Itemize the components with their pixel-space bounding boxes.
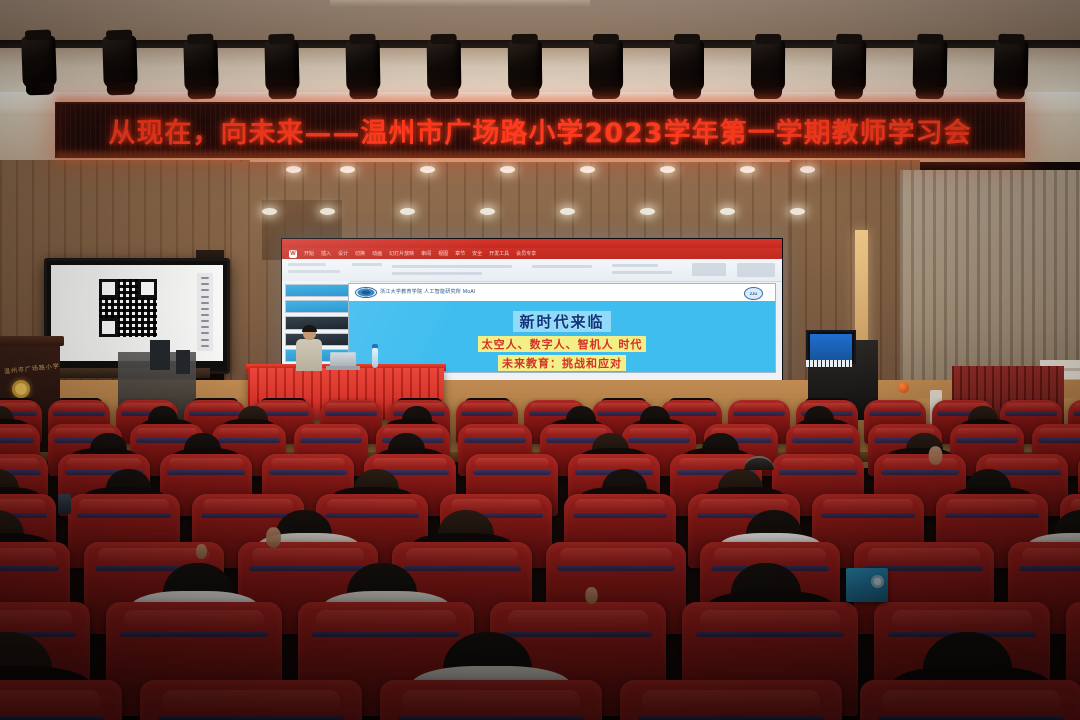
whiteboard-tool-button[interactable]: [201, 339, 209, 341]
recessed-downlight: [340, 166, 355, 173]
audience-member-face: [585, 587, 597, 604]
seat-highlight: [1039, 428, 1080, 436]
seat-highlight: [947, 499, 1037, 511]
whiteboard-tool-button[interactable]: [201, 345, 209, 347]
recessed-downlight: [400, 208, 415, 215]
whiteboard-tool-button[interactable]: [201, 277, 209, 279]
seat-highlight: [475, 458, 549, 468]
seat-highlight: [577, 458, 651, 468]
ribbon-ghost-control: [692, 263, 726, 276]
seat-highlight: [629, 428, 688, 436]
ceiling-spotlight: [508, 40, 542, 92]
orange-ball: [898, 382, 909, 393]
whiteboard-tool-button[interactable]: [201, 332, 209, 334]
institute-logo-icon: [355, 287, 377, 298]
ribbon-ghost-control: [612, 271, 672, 274]
wps-ribbon-tab[interactable]: 章节: [455, 250, 465, 257]
laptop-base: [326, 366, 360, 370]
seat-highlight: [560, 548, 672, 563]
seat-highlight: [203, 499, 293, 511]
monitor-screen: [810, 334, 852, 360]
wps-ribbon-tabs[interactable]: W 开始插入设计切换动画幻灯片放映审阅视图章节安全开发工具会员专享: [282, 248, 783, 259]
auditorium-seat: [380, 680, 602, 720]
audience-member-face: [266, 527, 281, 547]
ribbon-ghost-control: [288, 270, 340, 273]
seat-highlight: [892, 610, 1033, 628]
banner-glow-bottom: [55, 152, 1025, 166]
ceiling-spotlight: [994, 40, 1029, 93]
seat-highlight: [169, 458, 243, 468]
seat-highlight: [316, 610, 457, 628]
seat-highlight: [137, 428, 196, 436]
whiteboard-tool-button[interactable]: [201, 302, 209, 304]
seat-highlight: [0, 690, 100, 712]
wps-titlebar: [282, 239, 782, 248]
qr-code-icon: [99, 279, 157, 337]
institute-logo-text: 浙江大学教育学院 人工智能研究所 MoAI: [380, 290, 476, 296]
seat-highlight: [219, 428, 278, 436]
speaker-body: [296, 339, 322, 371]
wps-ribbon-tab[interactable]: 幻灯片放映: [389, 250, 414, 257]
auditorium-seat: [860, 680, 1080, 720]
recessed-downlight: [580, 166, 595, 173]
seat-highlight: [258, 403, 308, 410]
seat-highlight: [124, 610, 265, 628]
ribbon-ghost-control: [392, 272, 482, 275]
seat-highlight: [373, 458, 447, 468]
whiteboard-tool-button[interactable]: [201, 308, 209, 310]
ceiling-spotlight: [346, 40, 381, 93]
seat-highlight: [327, 499, 417, 511]
lectern-school-text: 温州市广场路小学: [4, 362, 53, 379]
piano-keys: [806, 360, 852, 367]
ribbon-ghost-control: [288, 263, 326, 266]
seat-highlight: [700, 610, 841, 628]
slide-thumbnail[interactable]: [285, 300, 349, 313]
whiteboard-toolbar[interactable]: [197, 273, 213, 351]
recessed-downlight: [560, 208, 575, 215]
seat-highlight: [0, 428, 33, 436]
qr-finder-tl: [99, 279, 118, 298]
whiteboard-tool-button[interactable]: [201, 296, 209, 298]
auditorium-photo: 从现在，向未来——温州市广场路小学2023学年第一学期教师学习会 W 开始插入设…: [0, 0, 1080, 720]
av-box: [150, 340, 170, 370]
recessed-downlight: [790, 208, 805, 215]
auditorium-seat: [140, 680, 362, 720]
lectern-top: [0, 336, 64, 346]
seat-highlight: [882, 690, 1060, 712]
slide-thumbnail[interactable]: [285, 284, 349, 297]
seat-highlight: [465, 428, 524, 436]
seat-highlight: [870, 403, 920, 410]
ceiling-spotlight: [183, 40, 218, 93]
slide-header: 浙江大学教育学院 人工智能研究所 MoAI ZJU: [349, 284, 775, 301]
recessed-downlight: [320, 208, 335, 215]
recessed-downlight: [420, 166, 435, 173]
ceiling-spotlight: [102, 35, 138, 88]
wps-logo-icon: W: [286, 250, 297, 258]
water-bottle: [372, 348, 378, 368]
banner-text: 从现在，向未来——温州市广场路小学2023学年第一学期教师学习会: [108, 111, 971, 150]
wps-tab-list[interactable]: 开始插入设计切换动画幻灯片放映审阅视图章节安全开发工具会员专享: [304, 250, 536, 257]
seat-highlight: [985, 458, 1059, 468]
speaker: [296, 326, 322, 370]
recessed-downlight: [262, 208, 277, 215]
seat-highlight: [868, 548, 980, 563]
seat-highlight: [402, 690, 580, 712]
ceiling-spotlight: [913, 40, 948, 92]
seat-highlight: [271, 458, 345, 468]
recessed-downlight: [800, 166, 815, 173]
recessed-downlight: [480, 208, 495, 215]
ceiling-spotlight: [589, 40, 623, 92]
seat-highlight: [326, 403, 376, 410]
led-banner: 从现在，向未来——温州市广场路小学2023学年第一学期教师学习会: [55, 102, 1025, 158]
slide-subtitle-2: 未来教育：挑战和应对: [498, 355, 626, 371]
wps-ribbon-tab[interactable]: 设计: [338, 250, 348, 257]
seat-highlight: [642, 690, 820, 712]
seat-highlight: [252, 548, 364, 563]
recessed-downlight: [286, 166, 301, 173]
auditorium-seat: [620, 680, 842, 720]
seat-highlight: [957, 428, 1016, 436]
recessed-downlight: [740, 166, 755, 173]
wps-ribbon-tab[interactable]: 安全: [472, 250, 482, 257]
ribbon-ghost-control: [352, 263, 382, 266]
seat-highlight: [0, 548, 56, 563]
ceiling-spotlight: [264, 40, 299, 93]
seat-highlight: [781, 458, 855, 468]
university-seal-icon: ZJU: [744, 287, 763, 300]
audience-area: [0, 398, 1080, 720]
seat-highlight: [823, 499, 913, 511]
seat-highlight: [406, 548, 518, 563]
ribbon-ghost-control: [392, 265, 512, 268]
ceiling-spotlight: [751, 40, 785, 92]
ribbon-ghost-control: [737, 263, 775, 277]
slide-canvas: 浙江大学教育学院 人工智能研究所 MoAI ZJU 新时代来临 太空人、数字人、…: [348, 283, 776, 373]
seat-highlight: [598, 403, 648, 410]
wps-ribbon-tab[interactable]: 视图: [438, 250, 448, 257]
seat-highlight: [666, 403, 716, 410]
audience-member-face: [929, 446, 943, 465]
wps-ribbon-tab[interactable]: 审阅: [421, 250, 431, 257]
seat-highlight: [162, 690, 340, 712]
ribbon-ghost-control: [612, 264, 658, 267]
wps-ribbon-body[interactable]: [282, 259, 782, 282]
phone: [58, 494, 71, 514]
seat-highlight: [0, 610, 72, 628]
wps-ribbon-tab[interactable]: 开始: [304, 250, 314, 257]
seat-highlight: [575, 499, 665, 511]
seat-highlight: [714, 548, 826, 563]
seat-highlight: [547, 428, 606, 436]
qr-finder-bl: [99, 318, 118, 337]
whiteboard-tool-button[interactable]: [201, 314, 209, 316]
school-crest-icon: [12, 380, 30, 398]
wps-ribbon-tab[interactable]: 会员专享: [516, 250, 536, 257]
seat-highlight: [734, 403, 784, 410]
seat-highlight: [54, 403, 104, 410]
seat-highlight: [1022, 548, 1080, 563]
whiteboard-tool-button[interactable]: [201, 289, 209, 291]
av-box: [176, 350, 190, 374]
ceiling-spotlight: [670, 40, 704, 92]
laptop: [330, 352, 357, 367]
whiteboard-tool-button[interactable]: [201, 283, 209, 285]
wps-chip-icon: W: [289, 250, 297, 258]
recessed-downlight: [640, 208, 655, 215]
seat-highlight: [67, 458, 141, 468]
speaker-hair: [302, 325, 317, 332]
seat-highlight: [1074, 403, 1080, 410]
slide-title: 新时代来临: [513, 311, 610, 332]
seat-highlight: [883, 458, 957, 468]
recessed-downlight: [660, 166, 675, 173]
stage-monitor: [806, 330, 856, 364]
seat-highlight: [301, 428, 360, 436]
seat-highlight: [79, 499, 169, 511]
whiteboard-tool-button[interactable]: [201, 326, 209, 328]
seat-highlight: [0, 499, 45, 511]
seat-highlight: [679, 458, 753, 468]
wps-ribbon-tab[interactable]: 动画: [372, 250, 382, 257]
ribbon-ghost-control: [532, 265, 592, 268]
wps-ribbon-tab[interactable]: 插入: [321, 250, 331, 257]
booklet: [846, 568, 888, 602]
wps-ribbon-tab[interactable]: 开发工具: [489, 250, 509, 257]
seat-highlight: [0, 458, 39, 468]
recessed-downlight: [500, 166, 515, 173]
whiteboard-screen: [51, 265, 223, 361]
seat-highlight: [1006, 403, 1056, 410]
ceiling-spotlight: [427, 40, 462, 92]
seat-highlight: [508, 610, 649, 628]
audience-member-face: [196, 544, 207, 559]
ceiling-spotlight: [21, 35, 57, 88]
seat-highlight: [98, 548, 210, 563]
seat-highlight: [190, 403, 240, 410]
slide-subtitle-1: 太空人、数字人、智机人 时代: [478, 336, 647, 352]
seat-highlight: [793, 428, 852, 436]
ceiling-spotlight: [832, 40, 866, 92]
whiteboard-tool-button[interactable]: [201, 320, 209, 322]
recessed-downlight: [720, 208, 735, 215]
auditorium-seat: [0, 680, 122, 720]
wps-ribbon-tab[interactable]: 切换: [355, 250, 365, 257]
qr-finder-tr: [138, 279, 157, 298]
main-led-screen: W 开始插入设计切换动画幻灯片放映审阅视图章节安全开发工具会员专享 浙江大学教育…: [281, 238, 783, 382]
seat-highlight: [462, 403, 512, 410]
